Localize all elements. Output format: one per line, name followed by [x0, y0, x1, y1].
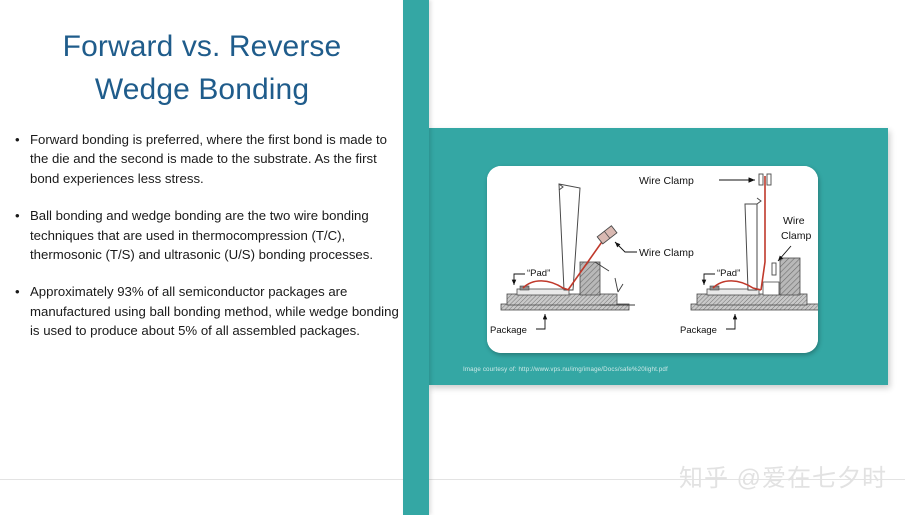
list-item-text: Forward bonding is preferred, where the …: [30, 132, 387, 186]
figure-caption: Image courtesy of: http://www.vps.nu/img…: [463, 366, 668, 373]
bullet-marker-icon: •: [15, 282, 20, 301]
list-item: • Approximately 93% of all semiconductor…: [8, 282, 400, 340]
page-title-line-1: Forward vs. Reverse: [18, 26, 386, 69]
watermark: 知乎 @爱在七夕时: [679, 458, 887, 493]
right-wire-clamp-top-label: Wire Clamp: [639, 175, 694, 187]
list-item: • Ball bonding and wedge bonding are the…: [8, 206, 400, 264]
bullet-marker-icon: •: [15, 130, 20, 149]
wedge-bonding-illustration: “Pad” Package Wire Clamp: [487, 166, 818, 353]
accent-vertical-bar: [403, 0, 429, 515]
right-wire-clamp-side-line2: Clamp: [781, 230, 812, 242]
slide-canvas: Forward vs. Reverse Wedge Bonding • Forw…: [0, 0, 905, 515]
list-item-text: Ball bonding and wedge bonding are the t…: [30, 208, 373, 262]
wedge-bonding-figure: “Pad” Package Wire Clamp: [487, 166, 818, 353]
left-pad-label: “Pad”: [527, 268, 550, 279]
list-item: • Forward bonding is preferred, where th…: [8, 130, 400, 188]
left-wire-clamp-label: Wire Clamp: [639, 247, 694, 259]
left-package-label: Package: [490, 325, 527, 336]
bullet-marker-icon: •: [15, 206, 20, 225]
bullet-list: • Forward bonding is preferred, where th…: [8, 130, 400, 341]
right-pad-label: “Pad”: [717, 268, 740, 279]
right-package-label: Package: [680, 325, 717, 336]
page-title-line-2: Wedge Bonding: [18, 69, 386, 112]
right-wire-clamp-side-line1: Wire: [783, 215, 805, 227]
list-item-text: Approximately 93% of all semiconductor p…: [30, 284, 399, 338]
page-title: Forward vs. Reverse Wedge Bonding: [18, 26, 386, 111]
